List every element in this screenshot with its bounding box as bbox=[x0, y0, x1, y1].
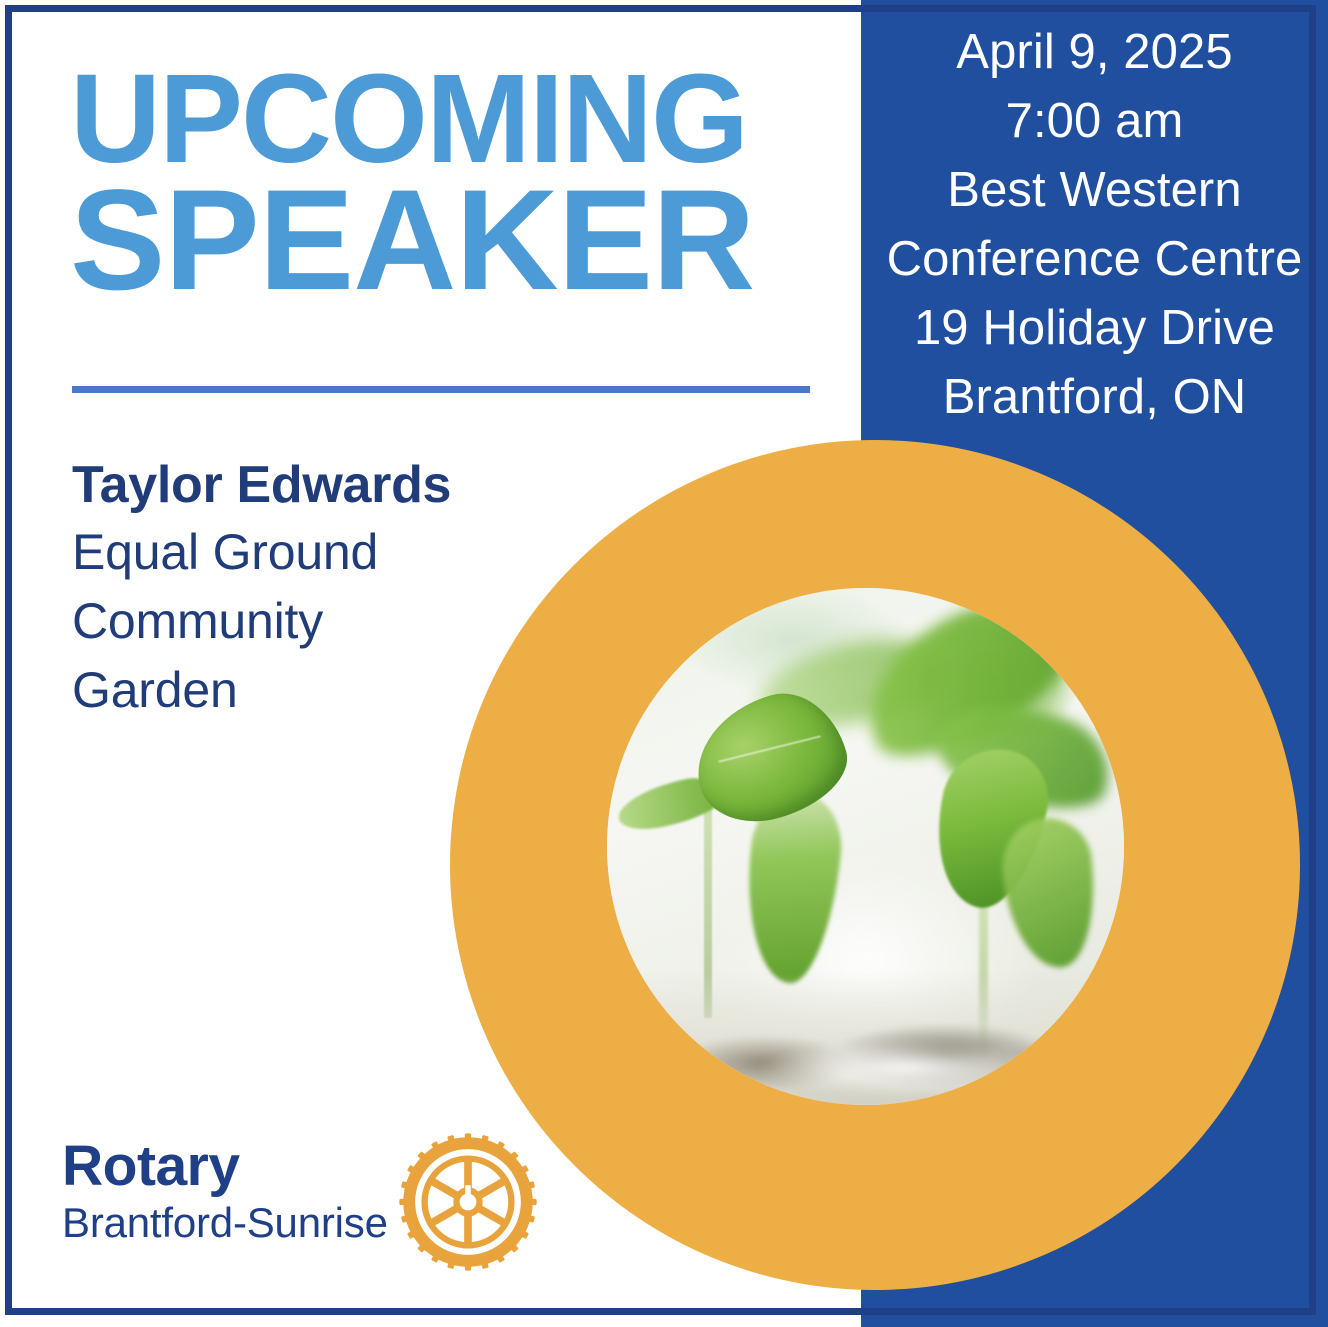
rotary-club-name: Brantford-Sunrise bbox=[62, 1197, 388, 1249]
rotary-logo: Rotary Brantford-Sunrise bbox=[62, 1135, 538, 1277]
speaker-org-line-1: Equal Ground bbox=[72, 518, 572, 587]
venue-line-time: 7:00 am bbox=[861, 87, 1328, 156]
venue-line-place-2: Conference Centre bbox=[861, 225, 1328, 294]
rotary-logo-text: Rotary Brantford-Sunrise bbox=[62, 1135, 388, 1249]
page-title: UPCOMING SPEAKER bbox=[70, 58, 830, 302]
venue-details: April 9, 2025 7:00 am Best Western Confe… bbox=[861, 18, 1328, 432]
seedlings-photo bbox=[607, 588, 1124, 1105]
speaker-name: Taylor Edwards bbox=[72, 452, 572, 518]
rotary-gear-wheel-icon bbox=[398, 1132, 538, 1277]
venue-line-date: April 9, 2025 bbox=[861, 18, 1328, 87]
title-divider bbox=[72, 386, 810, 393]
speaker-org-line-2: Community bbox=[72, 587, 572, 656]
speaker-details: Taylor Edwards Equal Ground Community Ga… bbox=[72, 452, 572, 725]
upcoming-speaker-poster: April 9, 2025 7:00 am Best Western Confe… bbox=[0, 0, 1328, 1327]
venue-line-street: 19 Holiday Drive bbox=[861, 294, 1328, 363]
soil-highlight bbox=[757, 1040, 1057, 1095]
speaker-org-line-3: Garden bbox=[72, 656, 572, 725]
venue-line-place-1: Best Western bbox=[861, 156, 1328, 225]
venue-line-city: Brantford, ON bbox=[861, 363, 1328, 432]
rotary-brand: Rotary bbox=[62, 1135, 388, 1197]
title-line-speaker: SPEAKER bbox=[70, 180, 830, 302]
